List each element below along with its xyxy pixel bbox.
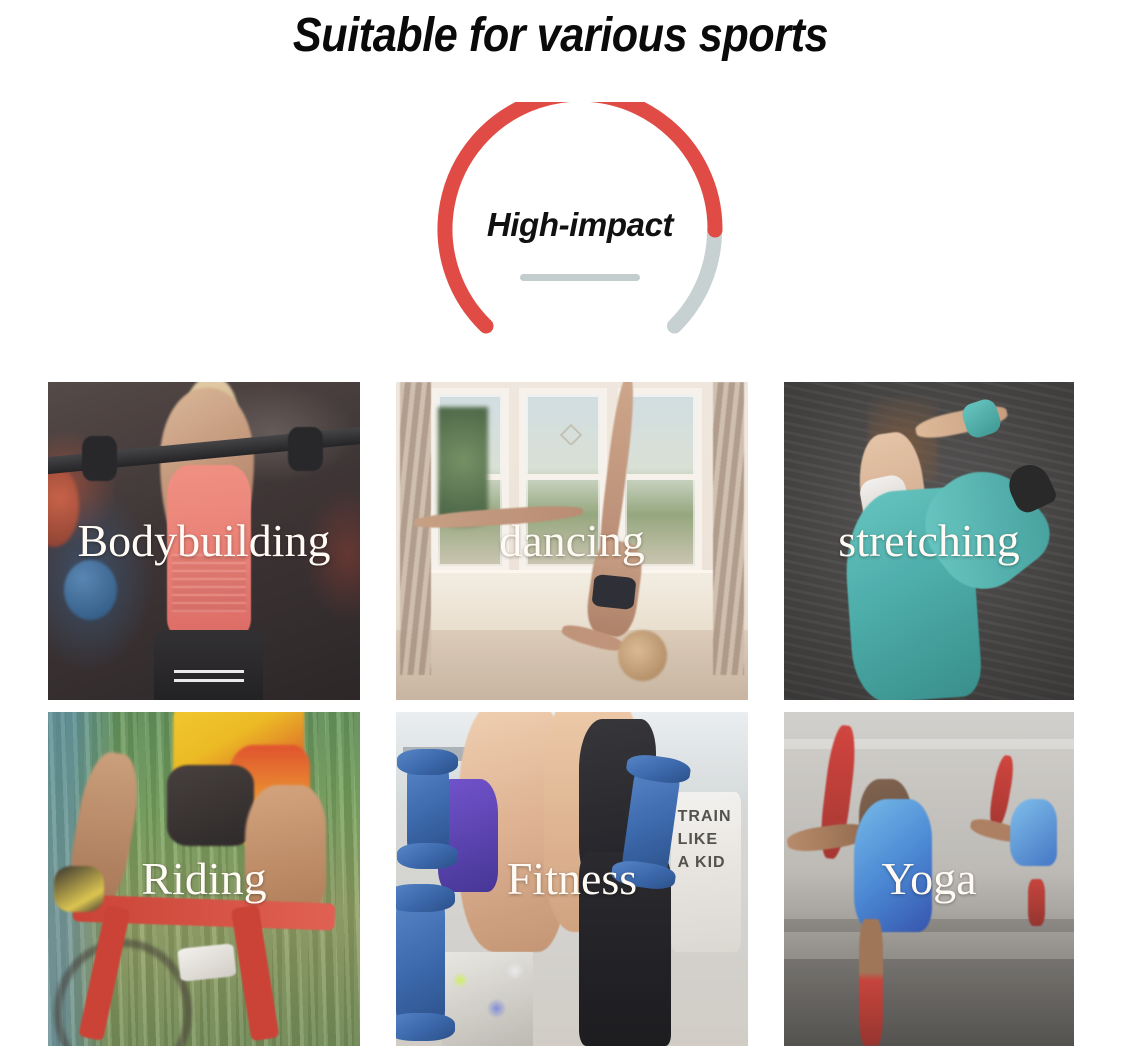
sports-grid: Bodybuilding dancing [48,382,1074,1046]
sport-tile-riding[interactable]: Riding [48,712,360,1046]
sport-tile-yoga[interactable]: Yoga [784,712,1074,1046]
tile-label: Riding [141,856,266,902]
sport-tile-fitness[interactable]: TRAIN LIKE A KID Fitness [396,712,748,1046]
gauge-label: High-impact [432,206,728,244]
sport-tile-bodybuilding[interactable]: Bodybuilding [48,382,360,700]
tile-label: stretching [838,518,1019,564]
tile-label: Yoga [881,856,976,902]
sport-tile-stretching[interactable]: stretching [784,382,1074,700]
impact-gauge: High-impact [432,102,728,364]
sport-tile-dancing[interactable]: dancing [396,382,748,700]
tile-label: Fitness [507,856,637,902]
tile-label: dancing [499,518,645,564]
page-title: Suitable for various sports [56,8,1065,63]
tile-label: Bodybuilding [77,518,330,564]
divider-dash-icon [520,274,640,281]
